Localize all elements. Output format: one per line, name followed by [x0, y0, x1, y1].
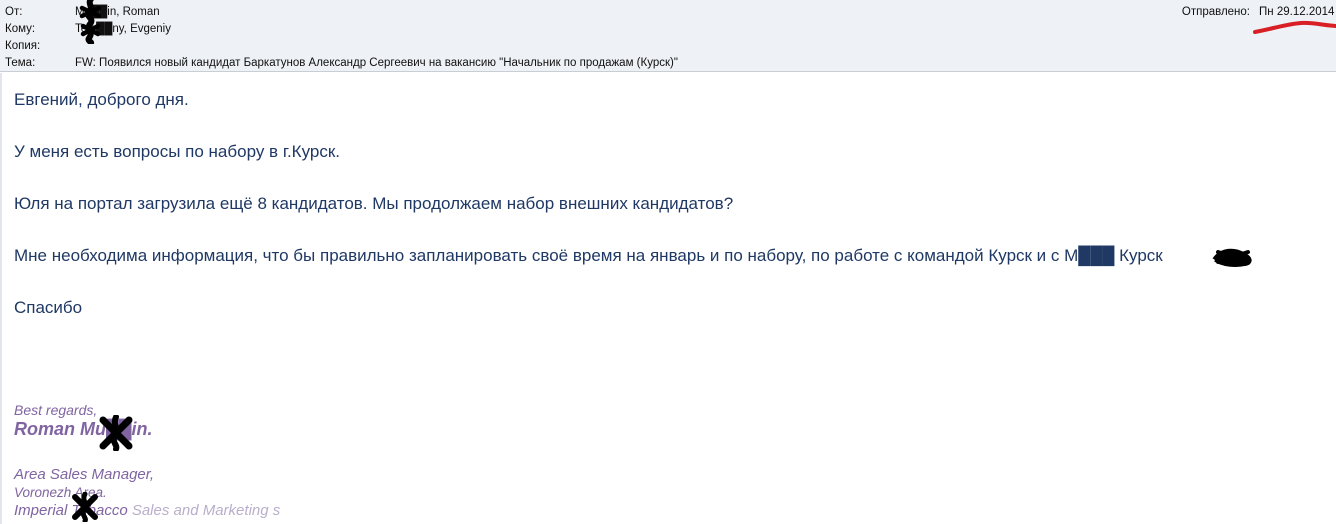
email-message-view: От: Mu██in, Roman Отправлено: Пн 29.12.2… [0, 0, 1336, 524]
body-paragraph-questions: У меня есть вопросы по набору в г.Курск. [14, 141, 340, 162]
message-header: От: Mu██in, Roman Отправлено: Пн 29.12.2… [0, 0, 1336, 72]
from-label: От: [5, 4, 22, 21]
body-paragraph-thanks: Спасибо [14, 297, 82, 318]
sent-value: Пн 29.12.2014 9 [1259, 4, 1336, 21]
signature-role: Area Sales Manager, [14, 466, 154, 484]
body-paragraph-information: Мне необходима информация, что бы правил… [14, 245, 1163, 266]
signature-company-name: Imperial Tobacco [14, 502, 128, 519]
to-label: Кому: [5, 21, 35, 38]
header-row-from: От: Mu██in, Roman Отправлено: Пн 29.12.2… [0, 4, 1336, 21]
signature-company-tail: Sales and Marketing s [128, 502, 281, 519]
signature-company: Imperial Tobacco Sales and Marketing s [14, 502, 280, 520]
to-value[interactable]: Tele██ny, Evgeniy [75, 21, 171, 38]
signature-greeting: Best regards, [14, 402, 97, 418]
from-value[interactable]: Mu██in, Roman [75, 4, 160, 21]
body-paragraph-greeting: Евгений, доброго дня. [14, 89, 189, 110]
sent-label: Отправлено: [1182, 4, 1250, 21]
message-body: Евгений, доброго дня. У меня есть вопрос… [0, 73, 1336, 524]
signature-name: Roman Mu██in. [14, 418, 153, 440]
header-row-subject: Тема: FW: Появился новый кандидат Баркат… [0, 55, 1336, 72]
header-row-cc: Копия: [0, 38, 1336, 55]
header-row-to: Кому: Tele██ny, Evgeniy [0, 21, 1336, 38]
body-paragraph-candidates: Юля на портал загрузила ещё 8 кандидатов… [14, 193, 733, 214]
cc-label: Копия: [5, 38, 40, 55]
subject-label: Тема: [5, 55, 35, 72]
signature-area: Voronezh Area. [14, 485, 107, 501]
subject-value: FW: Появился новый кандидат Баркатунов А… [75, 55, 678, 72]
